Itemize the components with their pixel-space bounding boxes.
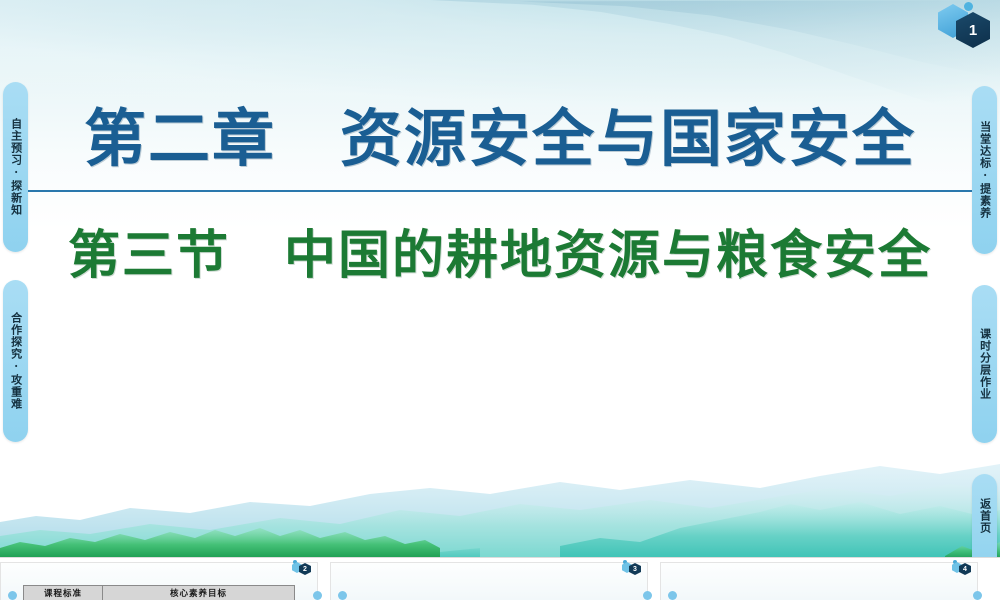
- thumbnail-hexagon-badge-icon: 4: [952, 560, 972, 574]
- sidebar-item-layered-homework[interactable]: 课时分层作业: [972, 285, 997, 443]
- resize-handle[interactable]: [643, 591, 652, 600]
- thumbnail-table: 课程标准 核心素养目标: [23, 585, 295, 600]
- return-home-button[interactable]: 返首页: [972, 474, 997, 558]
- chapter-title: 第二章 资源安全与国家安全: [0, 96, 1000, 182]
- sidebar-item-self-study[interactable]: 自主预习·探新知: [3, 82, 28, 252]
- thumbnail-hexagon-badge-icon: 3: [622, 560, 642, 574]
- current-slide[interactable]: 第二章 资源安全与国家安全 第三节 中国的耕地资源与粮食安全 1 自主预习·探新…: [0, 0, 1000, 558]
- table-header-label: 课程标准: [44, 587, 82, 599]
- watercolor-mountain-decoration: [0, 458, 1000, 558]
- table-header-label: 核心素养目标: [170, 587, 227, 599]
- section-title: 第三节 中国的耕地资源与粮食安全: [0, 218, 1000, 294]
- table-header-cell: 核心素养目标: [103, 586, 294, 600]
- resize-handle[interactable]: [973, 591, 982, 600]
- sidebar-item-cooperative-inquiry[interactable]: 合作探究·攻重难: [3, 280, 28, 442]
- slide-thumbnail[interactable]: [330, 562, 648, 600]
- slide-thumbnail[interactable]: [660, 562, 978, 600]
- resize-handle[interactable]: [8, 591, 17, 600]
- thumbnail-hexagon-badge-icon: 2: [292, 560, 312, 574]
- resize-handle[interactable]: [313, 591, 322, 600]
- resize-handle[interactable]: [338, 591, 347, 600]
- title-divider: [6, 190, 994, 192]
- table-header-cell: 课程标准: [24, 586, 103, 600]
- slide-thumbnail[interactable]: 课程标准 核心素养目标: [0, 562, 318, 600]
- sidebar-item-class-assessment[interactable]: 当堂达标·提素养: [972, 86, 997, 254]
- hexagon-badge-icon: 1: [934, 2, 994, 48]
- presentation-stage: 第二章 资源安全与国家安全 第三节 中国的耕地资源与粮食安全 1 自主预习·探新…: [0, 0, 1000, 600]
- resize-handle[interactable]: [668, 591, 677, 600]
- hexagon-dot-icon: [964, 2, 973, 11]
- slide-filmstrip: 课程标准 核心素养目标 2 3 4: [0, 558, 1000, 600]
